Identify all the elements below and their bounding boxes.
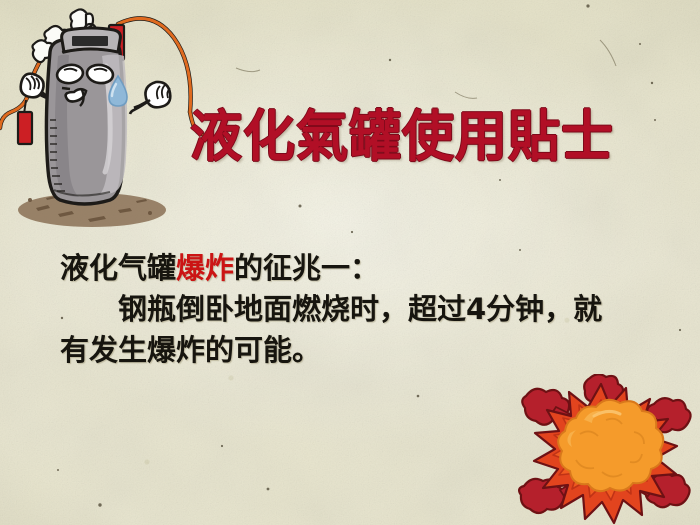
body-line-1-prefix: 液化气罐 bbox=[60, 251, 176, 285]
body-text: 液化气罐爆炸的征兆一： 钢瓶倒卧地面燃烧时，超过4分钟，就 有发生爆炸的可能。 bbox=[60, 248, 678, 371]
body-line-3: 有发生爆炸的可能。 bbox=[60, 330, 678, 371]
body-line-1-highlight: 爆炸 bbox=[176, 251, 234, 285]
cylinder-body bbox=[46, 38, 127, 204]
body-line-1-suffix: 的征兆一： bbox=[234, 251, 379, 285]
gas-cylinder-mascot bbox=[0, 0, 205, 232]
body-line-1: 液化气罐爆炸的征兆一： bbox=[60, 248, 678, 289]
page-title: 液化氣罐使用貼士 bbox=[190, 94, 682, 168]
arm-right bbox=[134, 82, 170, 108]
slide: 液化氣罐使用貼士 液化气罐爆炸的征兆一： 钢瓶倒卧地面燃烧时，超过4分钟，就 有… bbox=[0, 0, 700, 525]
body-line-2: 钢瓶倒卧地面燃烧时，超过4分钟，就 bbox=[60, 289, 678, 330]
explosion-graphic bbox=[506, 374, 696, 525]
valve-slot bbox=[72, 36, 108, 46]
